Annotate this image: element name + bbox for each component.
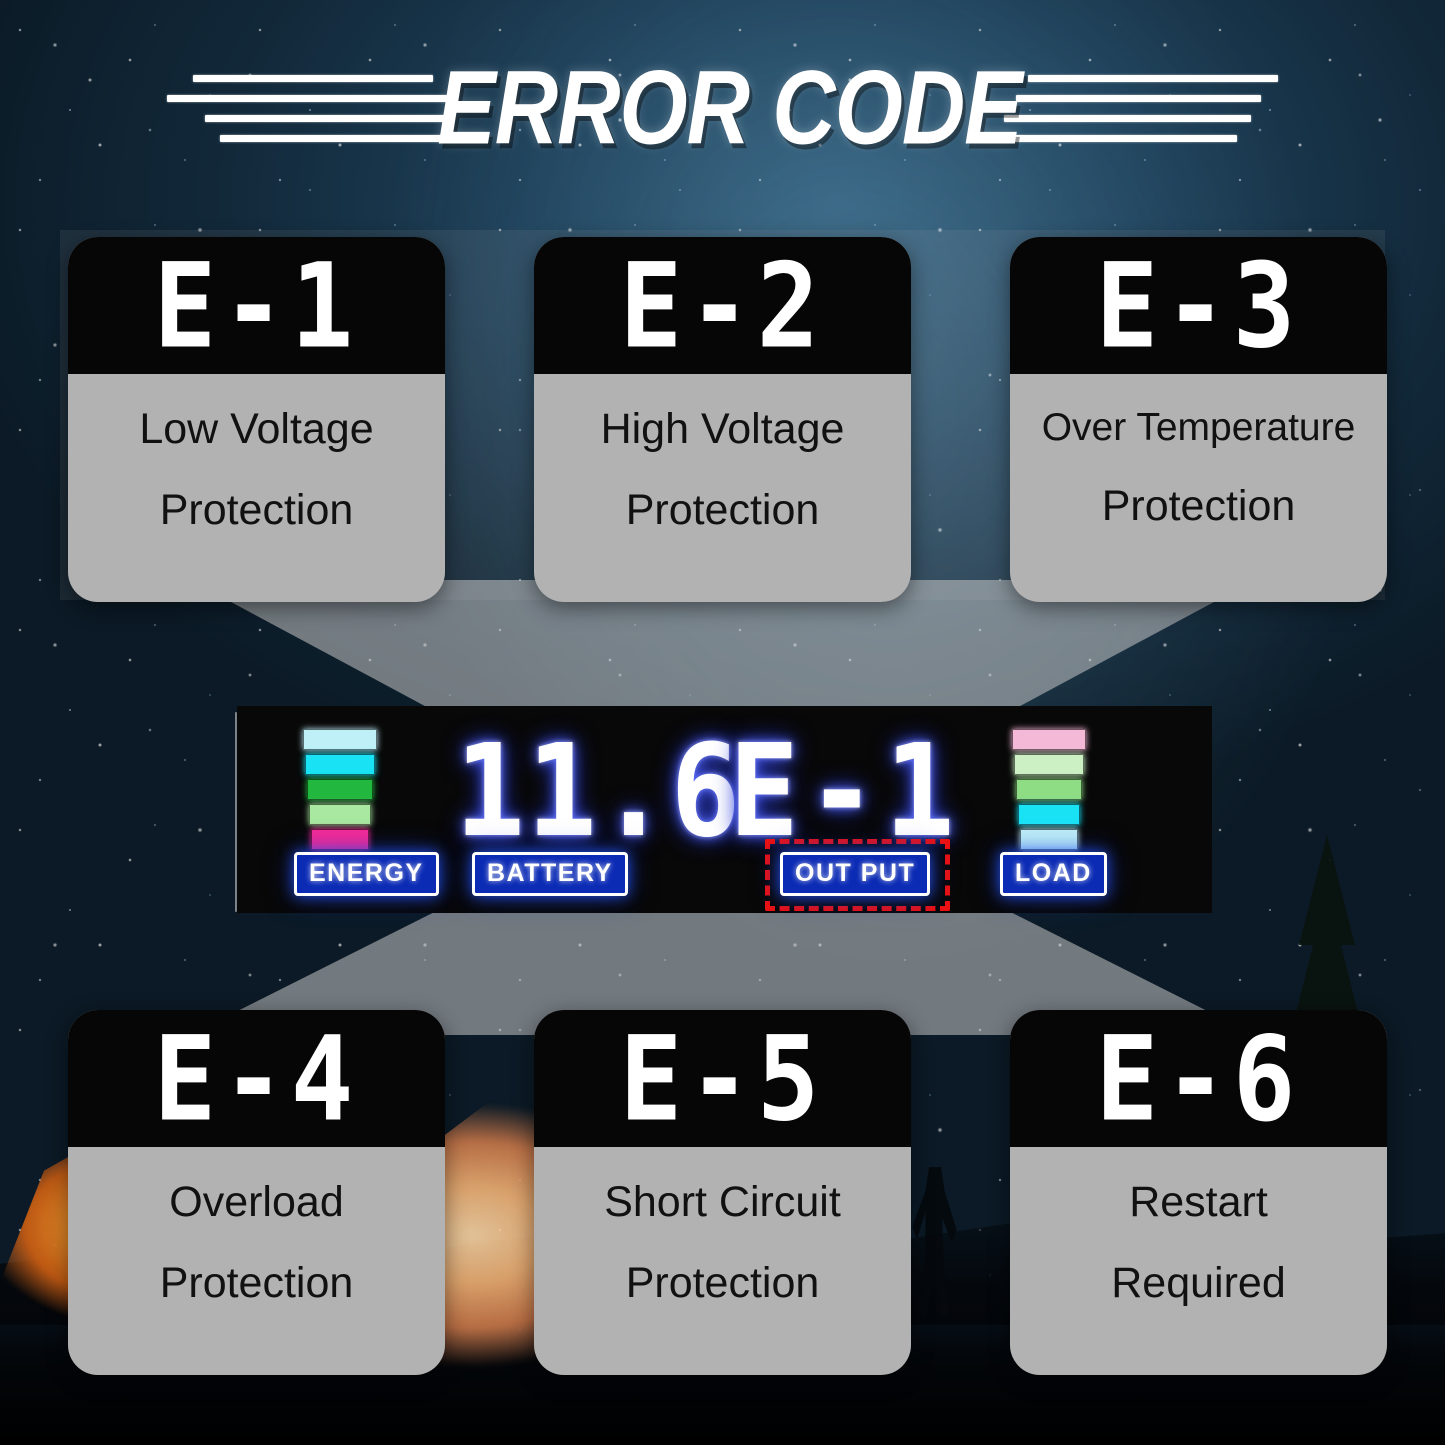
lcd-label-load: LOAD	[1000, 852, 1107, 896]
error-desc-line2: Protection	[626, 1262, 820, 1305]
bargraph-segment	[309, 804, 371, 825]
bargraph-segment	[1012, 729, 1086, 750]
error-desc-line2: Protection	[160, 1262, 354, 1305]
error-code-panel: E-3	[1010, 237, 1387, 374]
error-desc-line2: Protection	[626, 489, 820, 532]
speed-lines-right-icon	[1034, 75, 1278, 142]
bargraph-segment	[1014, 754, 1084, 775]
error-code-text: E-6	[1096, 1020, 1302, 1136]
lcd-display-panel: 11.6 E-1 ENERGY BATTERY OUT PUT LOAD	[237, 706, 1212, 913]
error-code-text: E-2	[620, 247, 826, 363]
error-desc-line1: High Voltage	[601, 408, 845, 451]
error-card-e4[interactable]: E-4 Overload Protection	[68, 1010, 445, 1375]
error-desc-line1: Low Voltage	[139, 408, 373, 451]
error-code-text: E-1	[154, 247, 360, 363]
bargraph-segment	[1016, 779, 1082, 800]
error-code-panel: E-5	[534, 1010, 911, 1147]
bargraph-segment	[1018, 804, 1080, 825]
error-code-panel: E-4	[68, 1010, 445, 1147]
lcd-label-energy: ENERGY	[294, 852, 439, 896]
error-card-e6[interactable]: E-6 Restart Required	[1010, 1010, 1387, 1375]
error-code-panel: E-6	[1010, 1010, 1387, 1147]
error-code-text: E-3	[1096, 247, 1302, 363]
error-desc-line1: Overload	[169, 1181, 343, 1224]
error-description: Low Voltage Protection	[68, 374, 445, 602]
error-card-e3[interactable]: E-3 Over Temperature Protection	[1010, 237, 1387, 602]
error-card-e2[interactable]: E-2 High Voltage Protection	[534, 237, 911, 602]
energy-bargraph-icon	[303, 729, 377, 850]
battery-voltage-value: 11.6	[455, 728, 742, 856]
bargraph-segment	[305, 754, 375, 775]
error-desc-line1: Short Circuit	[604, 1181, 841, 1224]
error-description: Overload Protection	[68, 1147, 445, 1375]
error-description: Restart Required	[1010, 1147, 1387, 1375]
error-desc-line2: Protection	[160, 489, 354, 532]
lcd-label-output: OUT PUT	[780, 852, 930, 896]
page-header: ERROR CODE	[0, 48, 1445, 168]
error-code-panel: E-1	[68, 237, 445, 374]
error-card-e1[interactable]: E-1 Low Voltage Protection	[68, 237, 445, 602]
bargraph-segment	[303, 729, 377, 750]
error-description: High Voltage Protection	[534, 374, 911, 602]
load-bargraph-icon	[1012, 729, 1086, 850]
output-error-value: E-1	[729, 728, 963, 856]
error-desc-line2: Protection	[1102, 485, 1296, 528]
error-description: Over Temperature Protection	[1010, 374, 1387, 602]
error-card-e5[interactable]: E-5 Short Circuit Protection	[534, 1010, 911, 1375]
error-code-panel: E-2	[534, 237, 911, 374]
poster-root: ERROR CODE E-1 Low Voltage Protection E-…	[0, 0, 1445, 1445]
lcd-label-battery: BATTERY	[472, 852, 628, 896]
error-code-text: E-5	[620, 1020, 826, 1136]
page-title: ERROR CODE	[437, 56, 1021, 161]
bargraph-segment	[307, 779, 373, 800]
error-code-text: E-4	[154, 1020, 360, 1136]
error-description: Short Circuit Protection	[534, 1147, 911, 1375]
bargraph-segment	[311, 829, 369, 850]
bargraph-segment	[1020, 829, 1078, 850]
speed-lines-left-icon	[167, 75, 425, 142]
error-desc-line1: Over Temperature	[1042, 408, 1356, 447]
error-desc-line2: Required	[1111, 1262, 1286, 1305]
error-desc-line1: Restart	[1129, 1181, 1268, 1224]
